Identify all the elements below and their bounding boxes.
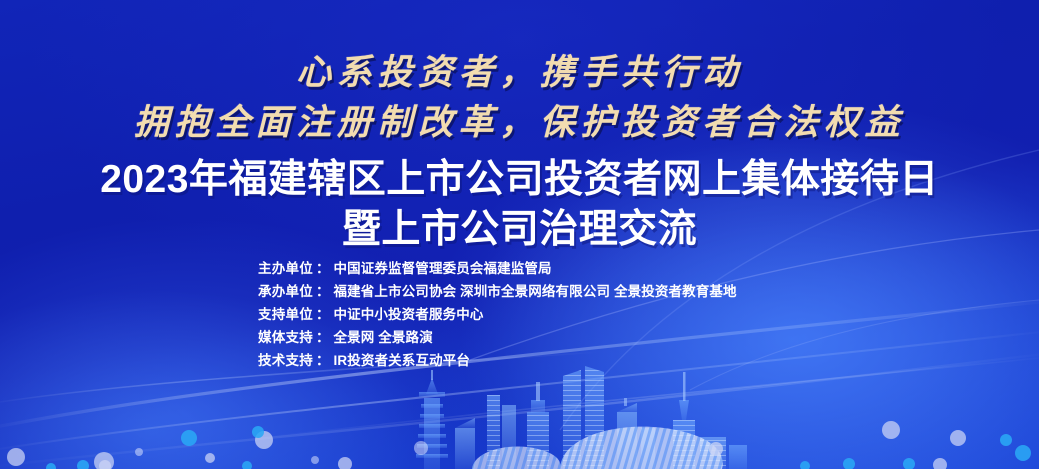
credit-label: 支持单位 — [258, 305, 316, 324]
credit-value: 中国证券监督管理委员会福建监管局 — [334, 259, 552, 278]
credit-label: 承办单位 — [258, 282, 316, 301]
credit-row-technical: 技术支持 ： IR投资者关系互动平台 — [258, 351, 737, 370]
credit-colon: ： — [316, 282, 330, 301]
credit-colon: ： — [316, 328, 330, 347]
calligraphy-line-1: 心系投资者，携手共行动 — [0, 44, 1039, 95]
credit-value: 中证中小投资者服务中心 — [334, 305, 484, 324]
credit-row-media: 媒体支持 ： 全景网 全景路演 — [258, 328, 737, 347]
mid-rise-tower — [617, 398, 637, 469]
pagoda-building — [416, 370, 448, 469]
antenna-tower — [673, 372, 695, 469]
page-title-line-2: 暨上市公司治理交流 — [0, 198, 1039, 254]
credit-colon: ： — [316, 259, 330, 278]
credit-value: 福建省上市公司协会 深圳市全景网络有限公司 全景投资者教育基地 — [334, 282, 737, 301]
calligraphy-line-2: 拥抱全面注册制改革，保护投资者合法权益 — [0, 94, 1039, 145]
stadium-dome-small — [472, 446, 560, 469]
credit-colon: ： — [316, 351, 330, 370]
credit-value: 全景网 全景路演 — [334, 328, 433, 347]
twin-supertall-towers — [563, 366, 604, 469]
credit-colon: ： — [316, 305, 330, 324]
credit-row-co-organizer: 承办单位 ： 福建省上市公司协会 深圳市全景网络有限公司 全景投资者教育基地 — [258, 282, 737, 301]
credit-row-supporter: 支持单位 ： 中证中小投资者服务中心 — [258, 305, 737, 324]
credits-list: 主办单位 ： 中国证券监督管理委员会福建监管局 承办单位 ： 福建省上市公司协会… — [258, 259, 737, 370]
event-banner: 心系投资者，携手共行动 拥抱全面注册制改革，保护投资者合法权益 2023年福建辖… — [0, 0, 1039, 469]
credit-label: 技术支持 — [258, 351, 316, 370]
credit-label: 主办单位 — [258, 259, 316, 278]
spire-tower — [527, 382, 549, 469]
credit-row-organizer: 主办单位 ： 中国证券监督管理委员会福建监管局 — [258, 259, 737, 278]
page-title-line-1: 2023年福建辖区上市公司投资者网上集体接待日 — [0, 148, 1039, 204]
credit-label: 媒体支持 — [258, 328, 316, 347]
credit-value: IR投资者关系互动平台 — [334, 351, 471, 370]
stadium-dome — [560, 427, 723, 469]
